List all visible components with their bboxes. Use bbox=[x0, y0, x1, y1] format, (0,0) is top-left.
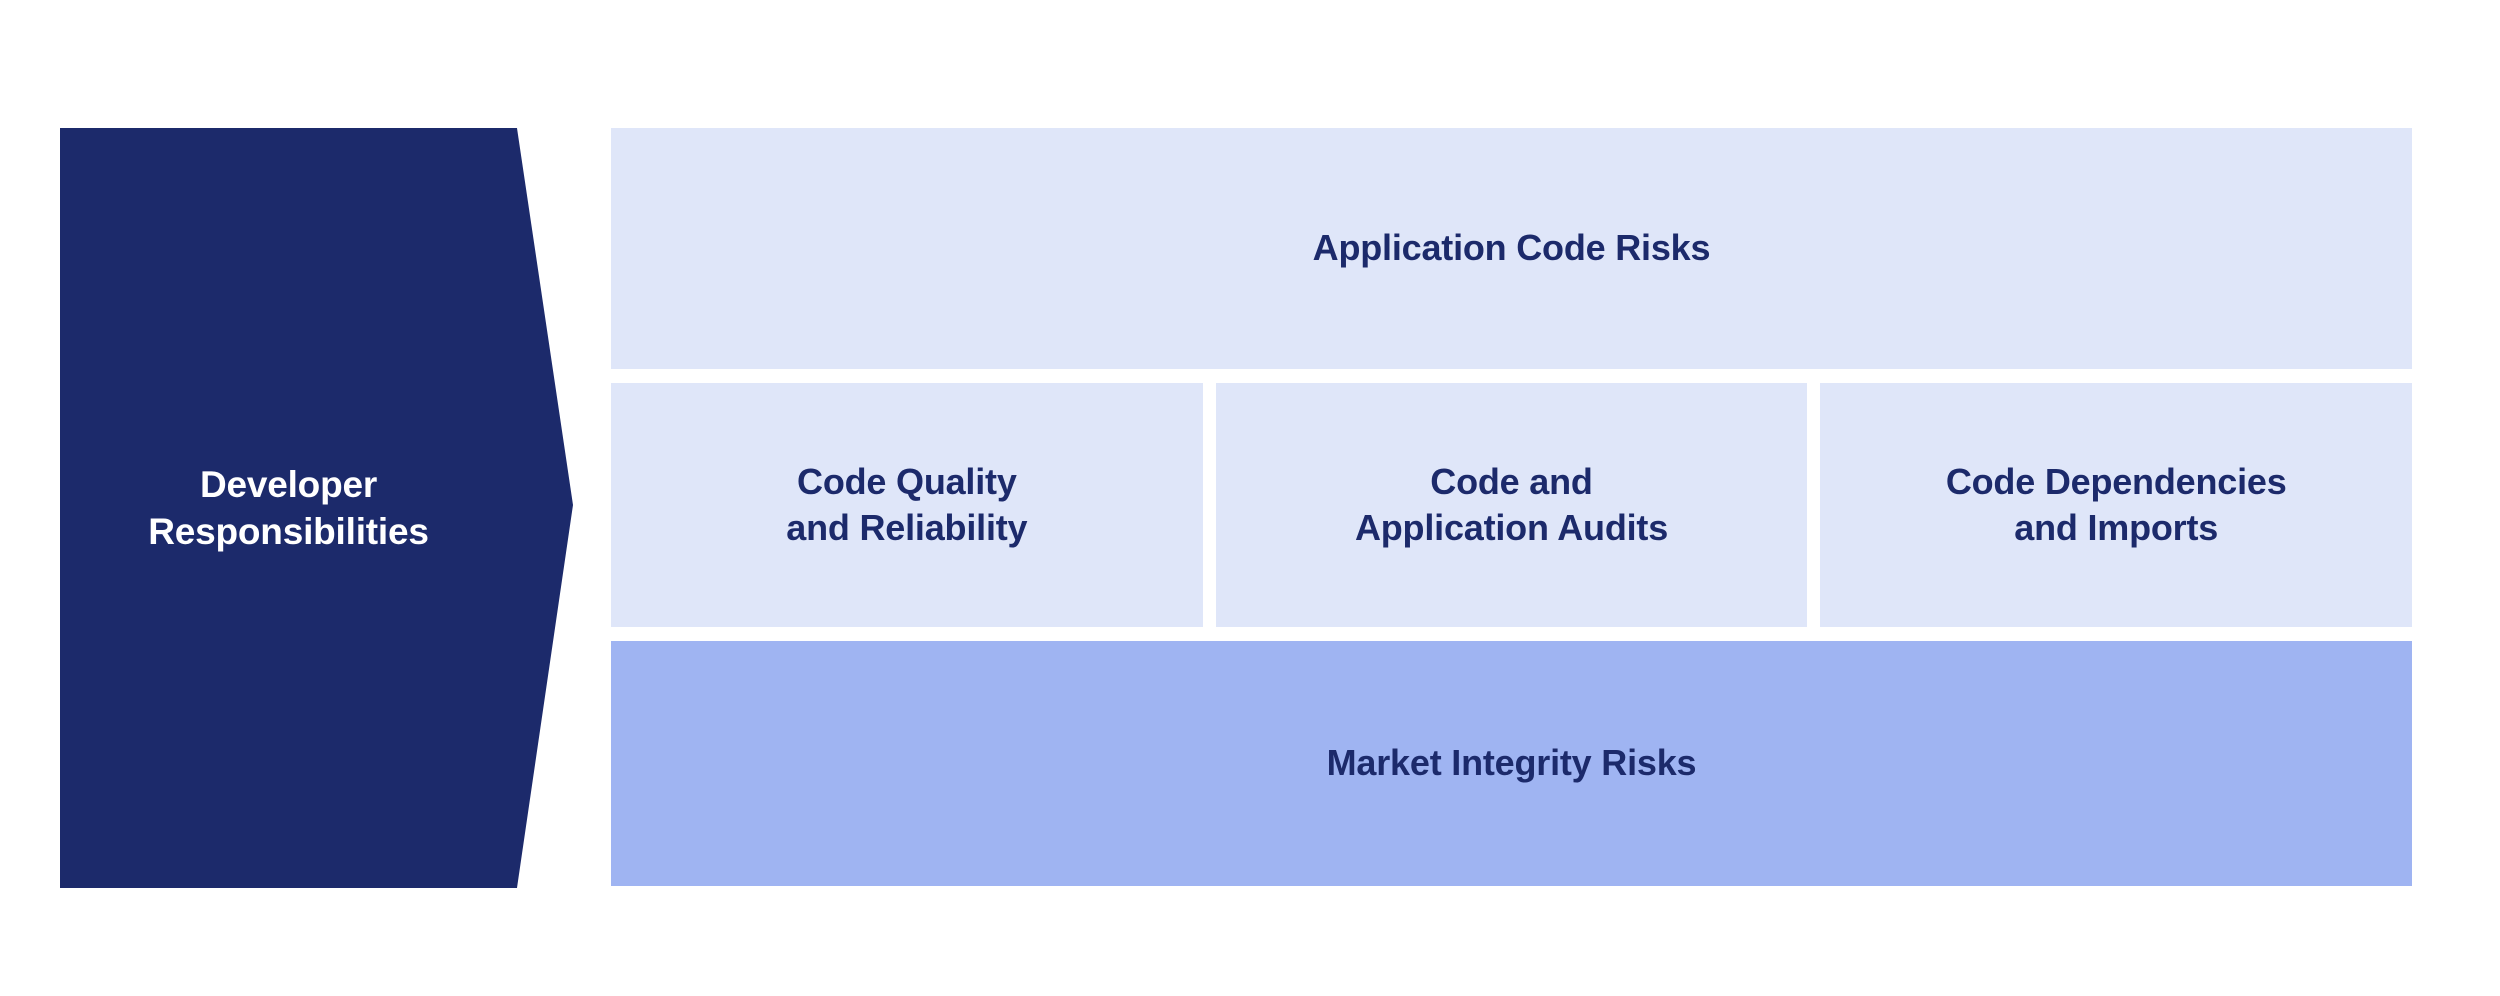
market-integrity-risks-label: Market Integrity Risks bbox=[1327, 740, 1697, 786]
code-risk-categories-row: Code Quality and Reliability Code and Ap… bbox=[611, 383, 2412, 627]
category-2-line2: Application Audits bbox=[1355, 505, 1668, 551]
category-3-line1: Code Dependencies bbox=[1946, 459, 2287, 505]
application-code-risks-band: Application Code Risks bbox=[611, 128, 2412, 369]
callout-label-line2: Responsibilities bbox=[148, 508, 429, 555]
developer-responsibilities-callout: Developer Responsibilities bbox=[60, 128, 573, 888]
category-3-line2: and Imports bbox=[2014, 505, 2218, 551]
category-code-dependencies-and-imports: Code Dependencies and Imports bbox=[1820, 383, 2412, 627]
callout-label-line1: Developer bbox=[200, 461, 377, 508]
category-code-quality-and-reliability: Code Quality and Reliability bbox=[611, 383, 1203, 627]
market-integrity-risks-band: Market Integrity Risks bbox=[611, 641, 2412, 886]
category-2-line1: Code and bbox=[1430, 459, 1592, 505]
category-1-line1: Code Quality bbox=[797, 459, 1017, 505]
category-code-and-application-audits: Code and Application Audits bbox=[1216, 383, 1808, 627]
callout-label: Developer Responsibilities bbox=[60, 128, 517, 888]
category-1-line2: and Reliability bbox=[786, 505, 1027, 551]
application-code-risks-label: Application Code Risks bbox=[1313, 225, 1711, 271]
diagram-canvas: Developer Responsibilities Application C… bbox=[0, 0, 2500, 996]
